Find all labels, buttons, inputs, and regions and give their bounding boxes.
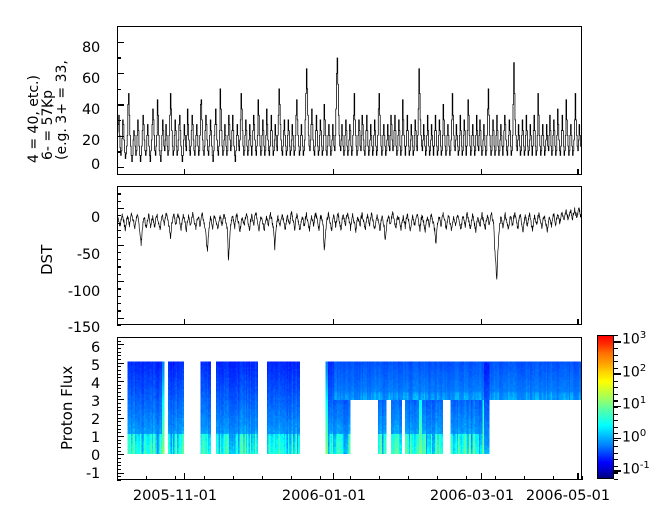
tick-mark [481,473,482,480]
tick-mark [117,425,121,426]
tick-mark [117,363,124,364]
tick-mark [577,319,578,325]
flux-ytick-m1: -1 [72,467,100,482]
tick-mark [117,230,121,231]
tick-mark [350,476,351,480]
colorbar-minor-tick [614,374,618,375]
tick-mark [117,410,121,411]
colorbar [597,335,614,479]
tick-mark [117,447,121,448]
tick-mark [117,303,121,304]
colorbar-label-1em1: 10-1 [622,460,650,478]
colorbar-minor-tick [614,466,618,467]
xtick-2005-11-01: 2005-11-01 [125,489,225,504]
tick-mark [117,89,121,90]
colorbar-label-1e1: 101 [622,395,646,413]
colorbar-exp-2: 2 [640,363,646,374]
dst-axis-title: DST [38,245,56,275]
tick-mark [117,237,121,238]
tick-mark [333,473,334,480]
tick-mark [379,476,380,480]
tick-mark [117,223,121,224]
colorbar-minor-tick [614,472,618,473]
kp-series [118,27,581,174]
flux-ytick-4: 4 [78,377,100,392]
tick-mark [117,120,121,121]
kp-ytick-80: 80 [66,41,100,56]
colorbar-minor-tick [614,414,618,415]
dst-ytick-0: 0 [58,211,100,226]
colorbar-label-1e2: 102 [622,363,646,381]
tick-mark [117,318,124,319]
tick-mark [117,245,124,246]
tick-mark [117,451,121,452]
tick-mark [117,201,121,202]
tick-mark [481,169,482,175]
tick-mark [117,359,121,360]
tick-mark [577,169,578,175]
tick-mark [117,374,121,375]
colorbar-minor-tick [614,407,618,408]
tick-mark [117,418,124,419]
tick-mark [117,443,121,444]
tick-mark [408,476,409,480]
tick-mark [117,432,121,433]
xtick-2006-03-01: 2006-03-01 [422,489,522,504]
tick-mark [184,319,185,325]
tick-mark [117,377,121,378]
tick-mark [117,421,121,422]
flux-ytick-1: 1 [78,431,100,446]
proton-flux-spectrogram [118,338,581,479]
kp-ytick-40: 40 [66,103,100,118]
tick-mark [333,319,334,325]
kp-panel [117,26,582,175]
tick-mark [117,381,124,382]
tick-mark [117,392,121,393]
tick-mark [466,476,467,480]
tick-mark [117,215,121,216]
tick-mark [117,385,121,386]
tick-mark [117,73,124,74]
tick-mark [117,341,121,342]
colorbar-minor-tick [614,420,618,421]
flux-axis-title: Proton Flux [58,366,76,450]
colorbar-exp-m1: -1 [640,460,650,471]
dst-ytick-m150: -150 [46,321,100,336]
tick-mark [117,281,124,282]
colorbar-exp-3: 3 [640,330,646,341]
colorbar-label-1e0: 100 [622,428,646,446]
tick-mark [117,355,121,356]
tick-mark [117,57,121,58]
tick-mark [146,476,147,480]
tick-mark [117,469,121,470]
tick-mark [117,348,121,349]
tick-mark [233,476,234,480]
kp-axis-note-3: 4 = 40, etc.) [26,75,42,163]
flux-ytick-0: 0 [78,449,100,464]
tick-mark [117,252,121,253]
tick-mark [184,169,185,175]
tick-mark [553,476,554,480]
tick-mark [437,476,438,480]
dst-ytick-m50: -50 [52,248,100,263]
tick-mark [117,352,121,353]
tick-mark [495,476,496,480]
tick-mark [117,274,121,275]
proton-flux-panel [117,337,582,480]
tick-mark [117,136,124,137]
tick-mark [333,169,334,175]
tick-mark [117,370,121,371]
tick-mark [117,465,121,466]
tick-mark [117,42,124,43]
tick-mark [184,473,185,480]
tick-mark [175,476,176,480]
tick-mark [117,462,121,463]
colorbar-minor-tick [614,381,618,382]
dst-ytick-m100: -100 [46,285,100,300]
colorbar-minor-tick [614,368,618,369]
colorbar-minor-tick [614,427,618,428]
tick-mark [262,476,263,480]
tick-mark [117,440,121,441]
tick-mark [117,151,121,152]
colorbar-minor-tick [614,446,618,447]
space-weather-figure: 80 60 40 20 0 Kp (e.g. 3+ = 33, 6- = 57,… [0,0,665,523]
tick-mark [117,399,124,400]
tick-mark [117,480,121,481]
tick-mark [117,186,121,187]
dst-series [118,187,581,324]
tick-mark [291,476,292,480]
tick-mark [117,344,124,345]
flux-ytick-2: 2 [78,413,100,428]
colorbar-minor-tick [614,394,618,395]
tick-mark [117,407,121,408]
tick-mark [117,396,121,397]
colorbar-minor-tick [614,459,618,460]
flux-ytick-6: 6 [78,341,100,356]
colorbar-minor-tick [614,453,618,454]
xtick-2006-01-01: 2006-01-01 [274,489,374,504]
colorbar-minor-tick [614,335,618,336]
colorbar-minor-tick [614,387,618,388]
tick-mark [117,436,124,437]
kp-axis-note-2: 6- = 57, [40,103,56,160]
tick-mark [117,473,124,474]
colorbar-minor-tick [614,433,618,434]
tick-mark [320,476,321,480]
tick-mark [117,208,124,209]
kp-ytick-0: 0 [66,158,100,173]
colorbar-minor-tick [614,342,618,343]
tick-mark [117,388,121,389]
tick-mark [117,366,121,367]
colorbar-exp-0: 0 [640,428,646,439]
tick-mark [117,403,121,404]
flux-ytick-5: 5 [78,359,100,374]
tick-mark [117,193,121,194]
tick-mark [524,476,525,480]
kp-ytick-20: 20 [66,134,100,149]
tick-mark [481,319,482,325]
tick-mark [117,288,121,289]
tick-mark [117,454,124,455]
tick-mark [117,259,121,260]
tick-mark [117,310,121,311]
dst-panel [117,186,582,325]
tick-mark [117,414,121,415]
colorbar-exp-1: 1 [640,395,646,406]
colorbar-minor-tick [614,361,618,362]
tick-mark [117,325,121,326]
tick-mark [117,26,121,27]
tick-mark [117,266,121,267]
tick-mark [117,429,121,430]
flux-ytick-3: 3 [78,395,100,410]
colorbar-minor-tick [614,400,618,401]
colorbar-minor-tick [614,479,618,480]
tick-mark [204,476,205,480]
colorbar-minor-tick [614,440,618,441]
kp-axis-note-1: (e.g. 3+ = 33, [54,60,70,160]
kp-ytick-60: 60 [66,72,100,87]
tick-mark [117,104,124,105]
tick-mark [117,476,118,480]
colorbar-minor-tick [614,355,618,356]
tick-mark [117,167,124,168]
tick-mark [577,473,578,480]
tick-mark [117,458,121,459]
tick-mark [582,476,583,480]
colorbar-minor-tick [614,348,618,349]
colorbar-label-1e3: 103 [622,330,646,348]
tick-mark [117,296,121,297]
xtick-2006-05-01: 2006-05-01 [518,489,618,504]
